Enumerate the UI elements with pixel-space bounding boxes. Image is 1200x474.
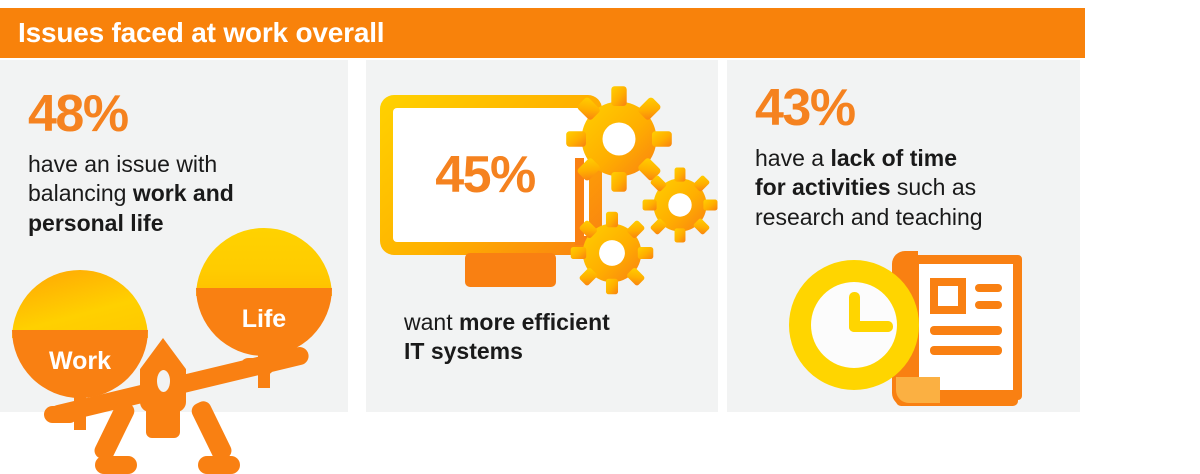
stat-description-1: have an issue with balancing work and pe… (28, 150, 328, 238)
stat-percent-45: 45% (435, 145, 535, 205)
monitor-stand (465, 253, 556, 287)
scale-leg-right (189, 399, 234, 463)
stat-description-2: want more efficient IT systems (404, 308, 704, 367)
scale-label-work: Work (12, 330, 148, 392)
panels-container: 48% have an issue with balancing work an… (0, 60, 1085, 412)
stat-percent-43: 43% (755, 82, 855, 134)
document-line-short (975, 284, 1002, 292)
scale-foot-left (95, 456, 137, 474)
document-header-row (930, 278, 1002, 314)
document-line-long (930, 346, 1002, 355)
stat-line-3b: such as (891, 174, 977, 200)
stat-percent-48: 48% (28, 88, 128, 140)
clock-document-illustration (727, 245, 1080, 412)
clock-minute-hand (849, 321, 893, 332)
document-line-long (930, 326, 1002, 335)
infographic-root: Issues faced at work overall 48% have an… (0, 0, 1200, 430)
scale-label-life: Life (196, 288, 332, 350)
stat-bold-2a: more efficient (459, 309, 610, 335)
stat-line-1b: balancing (28, 180, 133, 206)
scale-fulcrum-hole (157, 370, 170, 392)
stat-description-3: have a lack of time for activities such … (755, 144, 1065, 232)
panel-lack-of-time: 43% have a lack of time for activities s… (727, 60, 1080, 412)
stat-line-2a: want (404, 309, 459, 335)
stat-line-3c: research and teaching (755, 204, 983, 230)
monitor-display: 45% (393, 108, 589, 242)
scale-bowl-work-dome (12, 270, 148, 338)
gear-small-icon (569, 210, 655, 296)
stat-line-3a: have a (755, 145, 830, 171)
scale-bowl-life: Life (196, 228, 332, 364)
stat-bold-1a: work and (133, 180, 234, 206)
scale-beam-cap-left (44, 406, 78, 423)
panel-it-systems: 45% (366, 60, 718, 412)
document-short-lines (975, 278, 1002, 314)
stat-bold-3b: for activities (755, 174, 891, 200)
stat-bold-2b: IT systems (404, 338, 523, 364)
scale-beam-cap-right (240, 358, 274, 375)
page-title: Issues faced at work overall (0, 17, 384, 49)
balance-scale-illustration: Work Life (0, 228, 348, 428)
document-line-short (975, 301, 1002, 309)
monitor-gears-illustration: 45% (366, 80, 718, 300)
panel-work-life-balance: 48% have an issue with balancing work an… (0, 60, 348, 412)
scale-foot-right (198, 456, 240, 474)
document-curl (896, 377, 940, 403)
scale-bowl-work: Work (12, 270, 148, 406)
document-image-box (930, 278, 966, 314)
stat-line-1a: have an issue with (28, 151, 217, 177)
stat-bold-3a: lack of time (830, 145, 957, 171)
header-banner: Issues faced at work overall (0, 8, 1085, 58)
scale-bowl-life-dome (196, 228, 332, 296)
